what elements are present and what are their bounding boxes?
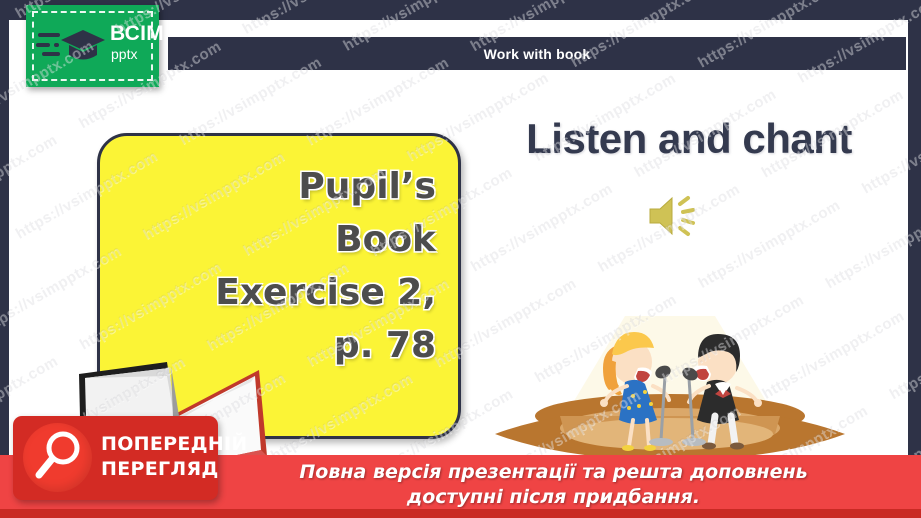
slide-viewer: Pupil’s Book Exercise 2, p. 78 Listen an… [0,0,921,518]
assignment-line-2: Book [100,213,436,266]
speed-lines-icon [36,31,62,61]
preview-badge-text: ПОПЕРЕДНІЙ ПЕРЕГЛЯД [101,432,213,482]
purchase-banner-text: Повна версія презентації та решта доповн… [200,460,907,510]
header-title: Work with book [484,46,591,62]
preview-badge: ПОПЕРЕДНІЙ ПЕРЕГЛЯД [13,416,218,500]
magnifier-icon [23,423,92,492]
speaker-icon[interactable] [646,192,704,240]
logo-title: ВСІМ [110,23,164,44]
header-bar: Work with book [168,37,906,70]
slide-title: Listen and chant [479,116,899,162]
purchase-banner-line-2: доступні після придбання. [200,485,907,510]
preview-badge-line-1: ПОПЕРЕДНІЙ [101,432,213,457]
logo-subtitle: pptx [111,47,137,61]
assignment-line-1: Pupil’s [100,160,436,213]
graduation-cap-icon [59,28,107,64]
assignment-line-3: Exercise 2, [100,266,436,319]
preview-badge-line-2: ПЕРЕГЛЯД [101,457,213,482]
purchase-banner-line-1: Повна версія презентації та решта доповн… [200,460,907,485]
site-logo[interactable]: ВСІМ pptx [26,5,159,87]
assignment-card-text: Pupil’s Book Exercise 2, p. 78 [100,160,436,372]
